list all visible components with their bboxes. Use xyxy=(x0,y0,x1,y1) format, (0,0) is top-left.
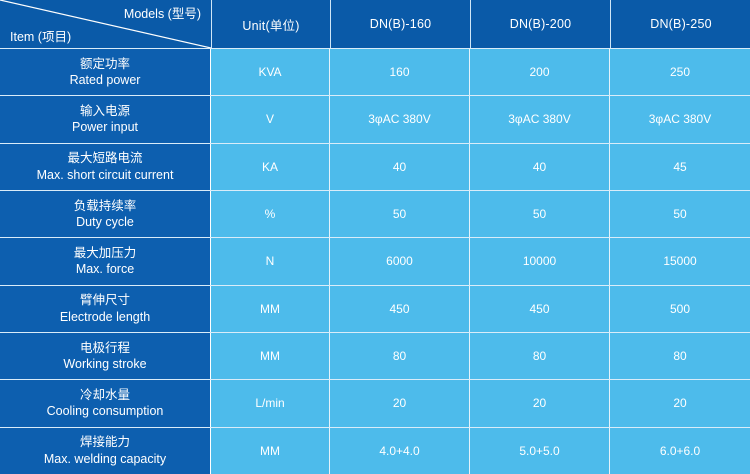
row-item-label-cn: 负载持续率 xyxy=(74,198,137,215)
row-value-cell-m200: 450 xyxy=(470,286,610,332)
table-row: 最大短路电流Max. short circuit currentKA404045 xyxy=(0,143,750,190)
row-unit-cell: MM xyxy=(211,333,330,379)
row-item-cell: 冷却水量Cooling consumption xyxy=(0,380,211,426)
specification-table: Models (型号) Item (项目) Unit(单位) DN(B)-160… xyxy=(0,0,750,474)
row-item-cell: 最大加压力Max. force xyxy=(0,238,211,284)
row-value-cell-m160: 6000 xyxy=(330,238,470,284)
row-value-cell-m200: 20 xyxy=(470,380,610,426)
row-item-cell: 焊接能力Max. welding capacity xyxy=(0,428,211,474)
row-item-label-cn: 最大加压力 xyxy=(74,245,137,262)
row-unit-cell: % xyxy=(211,191,330,237)
row-item-label-en: Power input xyxy=(72,119,138,136)
row-value-cell-m200: 50 xyxy=(470,191,610,237)
row-item-cell: 臂伸尺寸Electrode length xyxy=(0,286,211,332)
row-value-cell-m250: 250 xyxy=(610,49,750,95)
row-item-cell: 输入电源Power input xyxy=(0,96,211,142)
row-unit-cell: KA xyxy=(211,144,330,190)
row-unit-cell: MM xyxy=(211,428,330,474)
row-value-cell-m160: 40 xyxy=(330,144,470,190)
header-models-label: Models (型号) xyxy=(124,3,201,22)
table-row: 负载持续率Duty cycle%505050 xyxy=(0,190,750,237)
row-item-label-en: Max. force xyxy=(76,261,134,278)
header-corner-cell: Models (型号) Item (项目) xyxy=(0,0,212,48)
row-item-cell: 电极行程Working stroke xyxy=(0,333,211,379)
row-value-cell-m250: 6.0+6.0 xyxy=(610,428,750,474)
row-item-label-en: Rated power xyxy=(70,72,141,89)
row-item-label-cn: 最大短路电流 xyxy=(67,150,142,167)
table-row: 电极行程Working strokeMM808080 xyxy=(0,332,750,379)
row-value-cell-m160: 450 xyxy=(330,286,470,332)
row-value-cell-m250: 80 xyxy=(610,333,750,379)
row-unit-cell: N xyxy=(211,238,330,284)
header-unit-column: Unit(单位) xyxy=(212,0,331,48)
row-item-cell: 额定功率Rated power xyxy=(0,49,211,95)
header-model-dnb160: DN(B)-160 xyxy=(331,0,471,48)
row-item-label-cn: 焊接能力 xyxy=(80,434,130,451)
row-unit-cell: V xyxy=(211,96,330,142)
row-value-cell-m200: 3φAC 380V xyxy=(470,96,610,142)
row-value-cell-m200: 40 xyxy=(470,144,610,190)
row-item-label-cn: 电极行程 xyxy=(80,340,130,357)
row-value-cell-m160: 4.0+4.0 xyxy=(330,428,470,474)
table-row: 额定功率Rated powerKVA160200250 xyxy=(0,48,750,95)
row-value-cell-m250: 50 xyxy=(610,191,750,237)
row-value-cell-m160: 50 xyxy=(330,191,470,237)
table-row: 最大加压力Max. forceN60001000015000 xyxy=(0,237,750,284)
row-value-cell-m200: 200 xyxy=(470,49,610,95)
row-value-cell-m250: 15000 xyxy=(610,238,750,284)
row-value-cell-m200: 5.0+5.0 xyxy=(470,428,610,474)
row-item-label-en: Duty cycle xyxy=(76,214,134,231)
row-item-label-en: Max. welding capacity xyxy=(44,451,166,468)
row-value-cell-m250: 20 xyxy=(610,380,750,426)
row-value-cell-m250: 3φAC 380V xyxy=(610,96,750,142)
table-header-row: Models (型号) Item (项目) Unit(单位) DN(B)-160… xyxy=(0,0,750,48)
header-model-dnb200: DN(B)-200 xyxy=(471,0,611,48)
row-item-label-cn: 额定功率 xyxy=(80,56,130,73)
row-value-cell-m160: 3φAC 380V xyxy=(330,96,470,142)
row-value-cell-m250: 500 xyxy=(610,286,750,332)
row-item-label-cn: 输入电源 xyxy=(80,103,130,120)
row-item-label-cn: 臂伸尺寸 xyxy=(80,292,130,309)
row-item-label-en: Cooling consumption xyxy=(47,403,164,420)
row-item-label-en: Working stroke xyxy=(63,356,146,373)
table-row: 冷却水量Cooling consumptionL/min202020 xyxy=(0,379,750,426)
table-row: 臂伸尺寸Electrode lengthMM450450500 xyxy=(0,285,750,332)
row-unit-cell: KVA xyxy=(211,49,330,95)
table-body: 额定功率Rated powerKVA160200250输入电源Power inp… xyxy=(0,48,750,474)
row-value-cell-m160: 80 xyxy=(330,333,470,379)
header-model-dnb250: DN(B)-250 xyxy=(611,0,750,48)
row-item-label-en: Max. short circuit current xyxy=(37,167,174,184)
row-unit-cell: MM xyxy=(211,286,330,332)
row-item-cell: 最大短路电流Max. short circuit current xyxy=(0,144,211,190)
table-row: 焊接能力Max. welding capacityMM4.0+4.05.0+5.… xyxy=(0,427,750,474)
header-item-label: Item (项目) xyxy=(10,26,71,45)
row-item-cell: 负载持续率Duty cycle xyxy=(0,191,211,237)
row-unit-cell: L/min xyxy=(211,380,330,426)
row-value-cell-m160: 20 xyxy=(330,380,470,426)
row-value-cell-m250: 45 xyxy=(610,144,750,190)
row-value-cell-m200: 80 xyxy=(470,333,610,379)
table-row: 输入电源Power inputV3φAC 380V3φAC 380V3φAC 3… xyxy=(0,95,750,142)
row-value-cell-m200: 10000 xyxy=(470,238,610,284)
row-item-label-cn: 冷却水量 xyxy=(80,387,130,404)
row-value-cell-m160: 160 xyxy=(330,49,470,95)
row-item-label-en: Electrode length xyxy=(60,309,150,326)
